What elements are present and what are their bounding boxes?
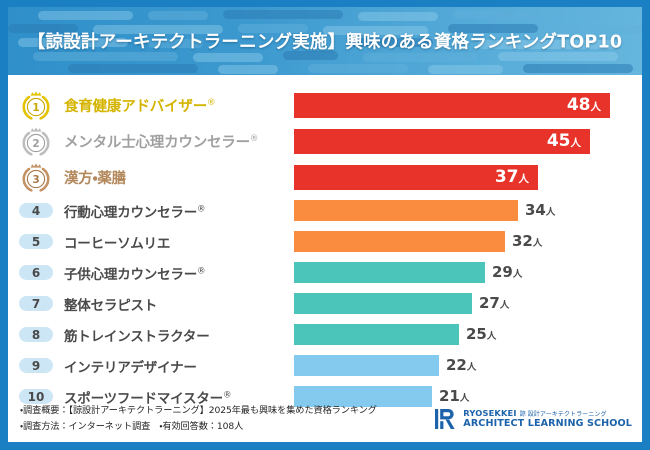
- logo-line-2: ARCHITECT LEARNING SCHOOL: [463, 418, 632, 429]
- header-band: 【諒設計アーキテクトラーニング実施】興味のある資格ランキングTOP10: [8, 7, 642, 75]
- ranking-row: 4行動心理カウンセラー®34人: [8, 195, 642, 226]
- rank-pill-4: 4: [19, 203, 53, 218]
- registered-trademark-icon: ®: [250, 134, 258, 144]
- ranking-row: 3 漢方・薬膳37人: [8, 159, 642, 195]
- qualification-label: 漢方・薬膳: [64, 167, 294, 188]
- logo-brand-roman: RYOSEKKEI: [463, 408, 516, 418]
- bar: [294, 355, 439, 376]
- qualification-label: 食育健康アドバイザー®: [64, 95, 294, 116]
- bar: [294, 324, 459, 345]
- qualification-label: 子供心理カウンセラー®: [64, 263, 294, 283]
- qualification-label: 行動心理カウンセラー®: [64, 201, 294, 221]
- medal-silver-icon: 2: [19, 124, 53, 158]
- bar-track: 25人: [294, 319, 642, 350]
- bar-value-label: 25人: [459, 327, 496, 342]
- ranking-row: 8筋トレインストラクター25人: [8, 319, 642, 350]
- footer: ・調査概要：【諒設計アーキテクトラーニング】2025年最も興味を集めた資格ランキ…: [8, 396, 642, 442]
- rank-pill-7: 7: [19, 296, 53, 311]
- bar-track: 37人: [294, 159, 642, 195]
- unit-label: 人: [546, 207, 556, 218]
- bar: [294, 262, 485, 283]
- qualification-label: コーヒーソムリエ: [64, 232, 294, 252]
- registered-trademark-icon: ®: [197, 266, 205, 276]
- unit-label: 人: [513, 269, 523, 280]
- bar: [294, 231, 505, 252]
- bar-value-label: 45人: [547, 133, 590, 150]
- registered-trademark-icon: ®: [197, 204, 205, 214]
- rank-cell-8: 8: [8, 327, 64, 342]
- unit-label: 人: [519, 173, 530, 185]
- qualification-label: 整体セラピスト: [64, 294, 294, 314]
- bar-track: 32人: [294, 226, 642, 257]
- rank-pill-8: 8: [19, 327, 53, 342]
- svg-text:3: 3: [32, 174, 39, 186]
- unit-label: 人: [591, 101, 602, 113]
- bar-value-label: 37人: [495, 169, 538, 186]
- rank-cell-7: 7: [8, 296, 64, 311]
- logo-text: RYOSEKKEI 諒 設計アーキテクトラーニング ARCHITECT LEAR…: [463, 409, 632, 430]
- bar-track: 22人: [294, 350, 642, 381]
- medal-bronze-icon: 3: [19, 160, 53, 194]
- survey-note-overview: ・調査概要：【諒設計アーキテクトラーニング】2025年最も興味を集めた資格ランキ…: [20, 403, 377, 419]
- poster-frame: 【諒設計アーキテクトラーニング実施】興味のある資格ランキングTOP10 1 食育…: [0, 0, 650, 450]
- qualification-label: 筋トレインストラクター: [64, 325, 294, 345]
- rank-cell-3: 3: [8, 160, 64, 194]
- bar-value-label: 48人: [567, 97, 610, 114]
- poster-canvas: 【諒設計アーキテクトラーニング実施】興味のある資格ランキングTOP10 1 食育…: [8, 7, 642, 442]
- unit-label: 人: [467, 362, 477, 373]
- qualification-label: インテリアデザイナー: [64, 356, 294, 376]
- survey-note-method: ・調査方法：インターネット調査 ・有効回答数：108人: [20, 419, 377, 435]
- unit-label: 人: [487, 331, 497, 342]
- bar: 48人: [294, 93, 610, 118]
- logo-line-1: RYOSEKKEI 諒 設計アーキテクトラーニング: [463, 409, 632, 419]
- bar-track: 27人: [294, 288, 642, 319]
- ranking-row: 5コーヒーソムリエ32人: [8, 226, 642, 257]
- ranking-row: 2 メンタル士心理カウンセラー®45人: [8, 123, 642, 159]
- bar-track: 45人: [294, 123, 642, 159]
- bar-value-label: 34人: [518, 203, 555, 218]
- brand-logo: RYOSEKKEI 諒 設計アーキテクトラーニング ARCHITECT LEAR…: [434, 407, 632, 431]
- ranking-row: 7整体セラピスト27人: [8, 288, 642, 319]
- unit-label: 人: [533, 238, 543, 249]
- ranking-row: 9インテリアデザイナー22人: [8, 350, 642, 381]
- svg-text:1: 1: [32, 102, 39, 114]
- rank-pill-5: 5: [19, 234, 53, 249]
- rank-cell-9: 9: [8, 358, 64, 373]
- bar-track: 34人: [294, 195, 642, 226]
- rank-cell-5: 5: [8, 234, 64, 249]
- bar: [294, 200, 518, 221]
- bar-value-label: 22人: [439, 358, 476, 373]
- bar-value-label: 27人: [472, 296, 509, 311]
- rank-cell-2: 2: [8, 124, 64, 158]
- ranking-row: 1 食育健康アドバイザー®48人: [8, 87, 642, 123]
- registered-trademark-icon: ®: [207, 98, 215, 108]
- rank-cell-6: 6: [8, 265, 64, 280]
- medal-gold-icon: 1: [19, 88, 53, 122]
- bar-track: 48人: [294, 87, 642, 123]
- unit-label: 人: [571, 137, 582, 149]
- bar: [294, 293, 472, 314]
- ranking-row: 6子供心理カウンセラー®29人: [8, 257, 642, 288]
- rank-cell-4: 4: [8, 203, 64, 218]
- bar-value-label: 29人: [485, 265, 522, 280]
- unit-label: 人: [500, 300, 510, 311]
- bar-value-label: 32人: [505, 234, 542, 249]
- svg-text:2: 2: [32, 138, 39, 150]
- rank-pill-9: 9: [19, 358, 53, 373]
- page-title: 【諒設計アーキテクトラーニング実施】興味のある資格ランキングTOP10: [8, 29, 642, 54]
- bar: 37人: [294, 165, 538, 190]
- survey-notes: ・調査概要：【諒設計アーキテクトラーニング】2025年最も興味を集めた資格ランキ…: [20, 403, 377, 435]
- logo-brand-japanese: 諒 設計アーキテクトラーニング: [520, 411, 607, 418]
- rank-cell-1: 1: [8, 88, 64, 122]
- ranking-chart: 1 食育健康アドバイザー®48人 2 メンタル士心理カウンセラー®45人 3 漢…: [8, 75, 642, 412]
- bar: 45人: [294, 129, 590, 154]
- qualification-label: メンタル士心理カウンセラー®: [64, 131, 294, 152]
- rank-pill-6: 6: [19, 265, 53, 280]
- bar-track: 29人: [294, 257, 642, 288]
- ryosekkei-r-mark-icon: [434, 407, 458, 431]
